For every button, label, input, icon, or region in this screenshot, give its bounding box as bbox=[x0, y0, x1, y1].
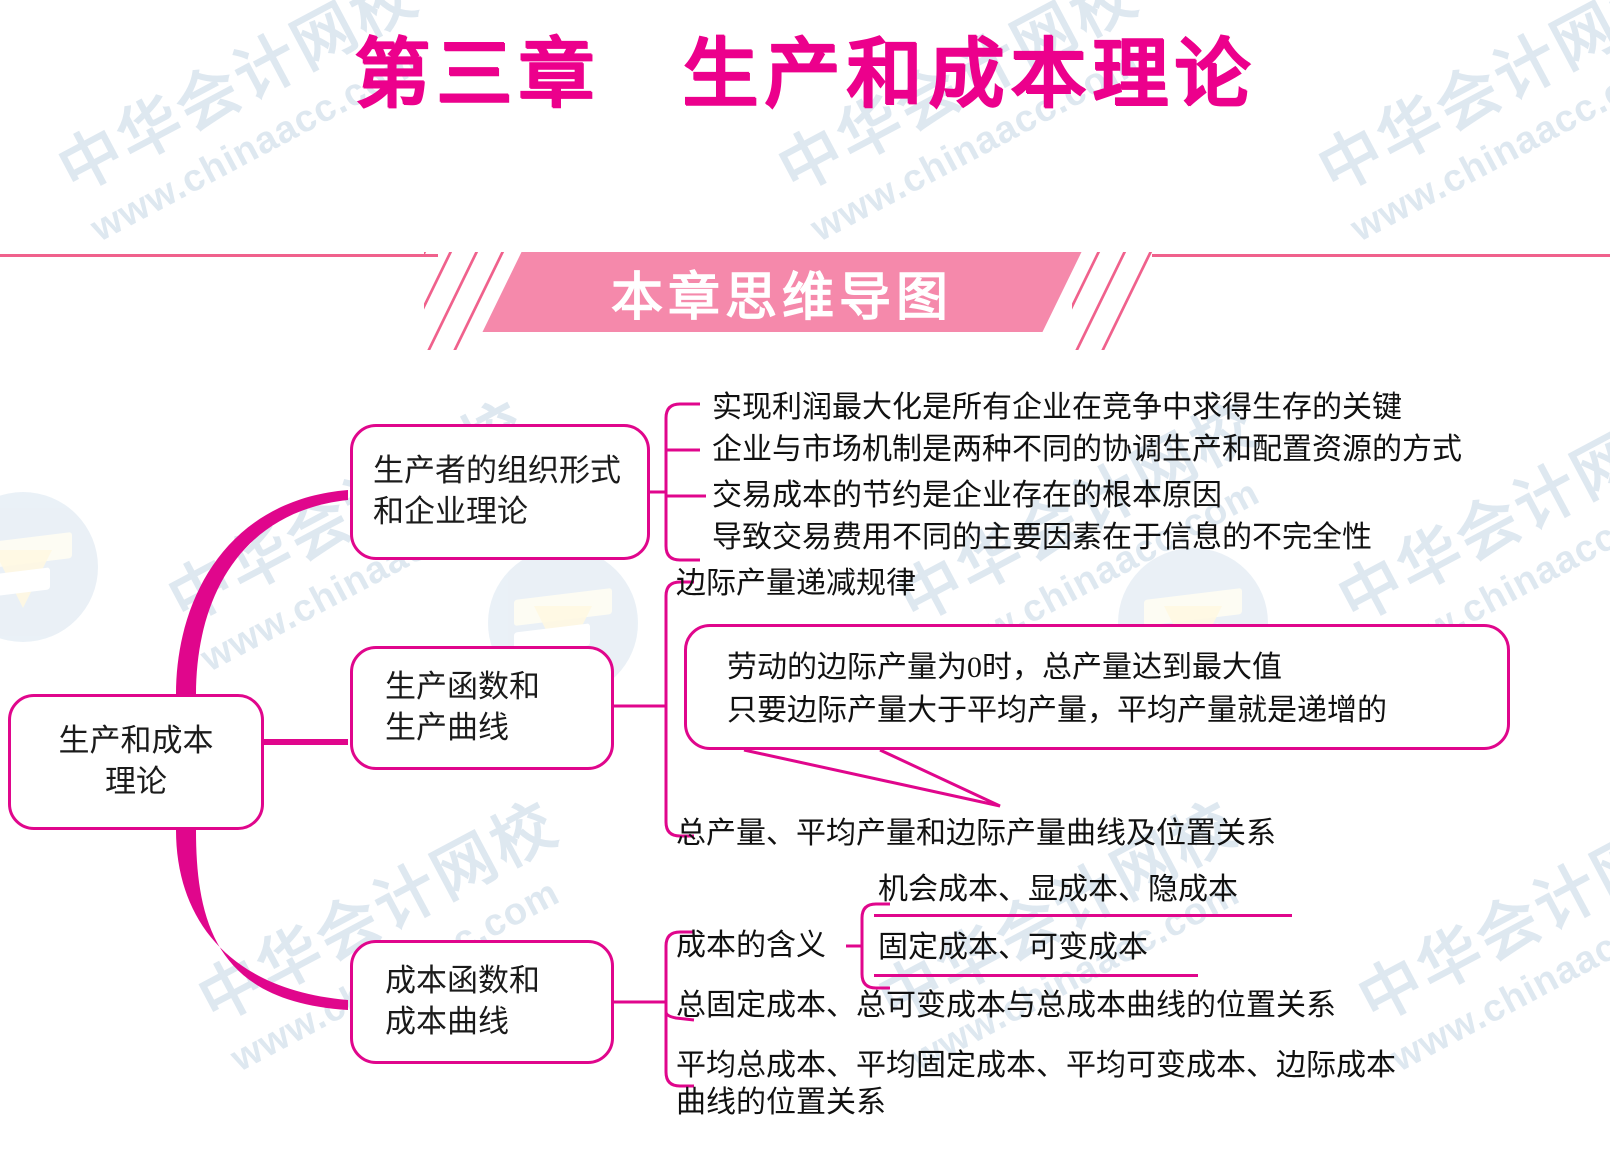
edge-root-to-cost bbox=[176, 830, 348, 1010]
banner-stripes-right bbox=[1072, 252, 1184, 350]
leaf-item[interactable]: 平均总成本、平均固定成本、平均可变成本、边际成本 曲线的位置关系 bbox=[676, 1048, 1396, 1121]
header-rule-right bbox=[1152, 254, 1610, 257]
leaf-item[interactable]: 导致交易费用不同的主要因素在于信息的不完全性 bbox=[712, 520, 1372, 557]
leaf-item[interactable]: 企业与市场机制是两种不同的协调生产和配置资源的方式 bbox=[712, 432, 1462, 469]
leaf-item[interactable]: 总固定成本、总可变成本与总成本曲线的位置关系 bbox=[676, 988, 1336, 1025]
leaf-item[interactable]: 实现利润最大化是所有企业在竞争中求得生存的关键 bbox=[712, 390, 1402, 427]
callout-bubble[interactable]: 劳动的边际产量为0时，总产量达到最大值 只要边际产量大于平均产量，平均产量就是递… bbox=[684, 624, 1510, 750]
branch-node-label: 成本函数和 成本曲线 bbox=[385, 961, 540, 1043]
branch-node-cost-function[interactable]: 成本函数和 成本曲线 bbox=[350, 940, 614, 1064]
branch-node-production-function[interactable]: 生产函数和 生产曲线 bbox=[350, 646, 614, 770]
leaf-item-cost-meaning[interactable]: 成本的含义 bbox=[676, 928, 826, 965]
spine-producer-bottom-cap bbox=[666, 546, 700, 560]
mindmap-page: 中华会计网校 www.chinaacc.com 中华会计网校 www.china… bbox=[0, 0, 1610, 1167]
subitem-underline bbox=[874, 914, 1292, 917]
leaf-subitem[interactable]: 固定成本、可变成本 bbox=[878, 930, 1148, 967]
leaf-item[interactable]: 交易成本的节约是企业存在的根本原因 bbox=[712, 478, 1222, 515]
spine-producer-top-cap bbox=[666, 404, 700, 418]
leaf-item[interactable]: 边际产量递减规律 bbox=[676, 566, 916, 603]
header-rule-left bbox=[0, 254, 438, 257]
root-node-label: 生产和成本 理论 bbox=[59, 721, 214, 803]
leaf-subitem[interactable]: 机会成本、显成本、隐成本 bbox=[878, 872, 1238, 909]
branch-node-label: 生产函数和 生产曲线 bbox=[385, 667, 540, 749]
subitem-underline bbox=[874, 974, 1198, 977]
callout-bubble-text: 劳动的边际产量为0时，总产量达到最大值 只要边际产量大于平均产量，平均产量就是递… bbox=[727, 647, 1387, 732]
page-title: 第三章 生产和成本理论 bbox=[0, 12, 1610, 122]
callout-tail bbox=[744, 750, 1000, 806]
branch-node-producer-organization[interactable]: 生产者的组织形式 和企业理论 bbox=[350, 424, 650, 560]
section-banner-label: 本章思维导图 bbox=[502, 252, 1062, 332]
leaf-item[interactable]: 总产量、平均产量和边际产量曲线及位置关系 bbox=[676, 816, 1276, 853]
edge-root-to-producer bbox=[176, 490, 348, 694]
root-node[interactable]: 生产和成本 理论 bbox=[8, 694, 264, 830]
branch-node-label: 生产者的组织形式 和企业理论 bbox=[373, 451, 621, 533]
